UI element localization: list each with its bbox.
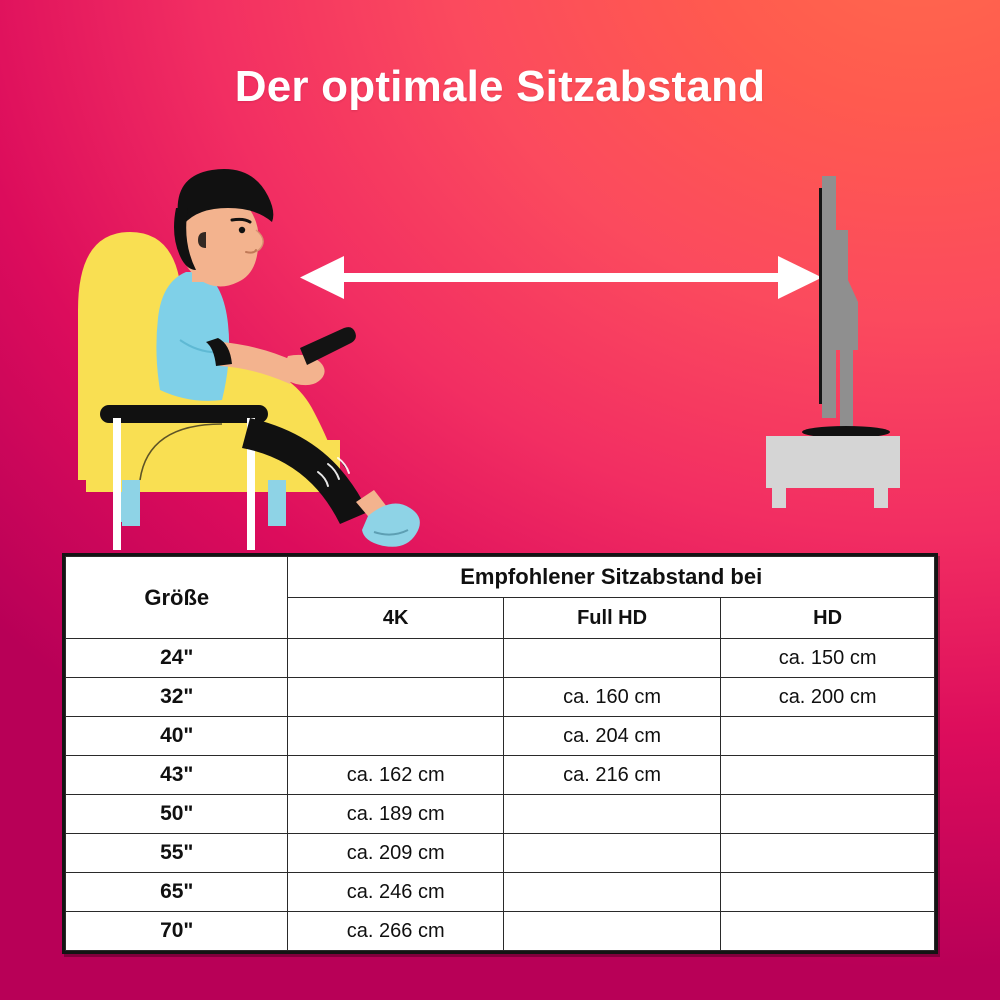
cell-size: 24" — [66, 639, 288, 678]
infographic-root: Der optimale Sitzabstand — [0, 0, 1000, 1000]
cell-4k: ca. 189 cm — [288, 795, 504, 834]
tv-cabinet-leg-left — [772, 488, 786, 508]
cell-hd — [721, 795, 935, 834]
table-head-row-group: Größe Empfohlener Sitzabstand bei — [66, 557, 935, 598]
tv-remote-icon — [300, 327, 356, 365]
cell-hd — [721, 912, 935, 951]
column-header-size: Größe — [66, 557, 288, 639]
cell-full-hd — [503, 639, 720, 678]
tv-cabinet-leg-right — [874, 488, 888, 508]
table-row: 40"ca. 204 cm — [66, 717, 935, 756]
cell-hd — [721, 834, 935, 873]
table-row: 32"ca. 160 cmca. 200 cm — [66, 678, 935, 717]
cell-size: 70" — [66, 912, 288, 951]
double-headed-distance-arrow — [300, 256, 822, 299]
column-header-4k: 4K — [288, 598, 504, 639]
tv-screen-edge — [819, 188, 822, 404]
footstool-leg-left — [113, 418, 121, 550]
chair-leg-front-left — [122, 480, 140, 526]
table-body: 24"ca. 150 cm32"ca. 160 cmca. 200 cm40"c… — [66, 639, 935, 951]
cell-full-hd — [503, 912, 720, 951]
cell-full-hd — [503, 873, 720, 912]
chair-leg-front-right — [268, 480, 286, 526]
tv-panel-back — [822, 176, 836, 418]
cell-4k: ca. 209 cm — [288, 834, 504, 873]
cell-size: 40" — [66, 717, 288, 756]
column-header-fullhd: Full HD — [503, 598, 720, 639]
tv-pedestal-neck — [840, 346, 853, 432]
table-row: 43"ca. 162 cmca. 216 cm — [66, 756, 935, 795]
cell-full-hd: ca. 160 cm — [503, 678, 720, 717]
column-header-group: Empfohlener Sitzabstand bei — [288, 557, 935, 598]
illustration-svg — [0, 150, 1000, 550]
table-row: 65"ca. 246 cm — [66, 873, 935, 912]
cell-size: 65" — [66, 873, 288, 912]
cell-hd: ca. 200 cm — [721, 678, 935, 717]
tv-housing-mid — [836, 230, 848, 350]
column-header-hd: HD — [721, 598, 935, 639]
cell-hd — [721, 873, 935, 912]
cell-size: 32" — [66, 678, 288, 717]
cell-4k: ca. 246 cm — [288, 873, 504, 912]
page-title: Der optimale Sitzabstand — [0, 62, 1000, 112]
cell-size: 50" — [66, 795, 288, 834]
person-shirt — [156, 272, 229, 401]
cell-size: 43" — [66, 756, 288, 795]
cell-hd: ca. 150 cm — [721, 639, 935, 678]
television-on-stand — [766, 176, 900, 508]
arrow-head-left — [300, 256, 344, 299]
table-row: 55"ca. 209 cm — [66, 834, 935, 873]
arrow-head-right — [778, 256, 822, 299]
sitzabstand-table-container: Größe Empfohlener Sitzabstand bei 4K Ful… — [62, 553, 938, 954]
footstool-top — [100, 405, 268, 423]
cell-full-hd: ca. 204 cm — [503, 717, 720, 756]
cell-4k — [288, 678, 504, 717]
sitzabstand-table: Größe Empfohlener Sitzabstand bei 4K Ful… — [65, 556, 935, 951]
table-row: 50"ca. 189 cm — [66, 795, 935, 834]
tv-cabinet — [766, 436, 900, 488]
cell-4k — [288, 639, 504, 678]
illustration-area — [0, 150, 1000, 550]
cell-hd — [721, 756, 935, 795]
cell-size: 55" — [66, 834, 288, 873]
arrow-shaft — [330, 273, 790, 282]
table-head: Größe Empfohlener Sitzabstand bei 4K Ful… — [66, 557, 935, 639]
cell-4k: ca. 266 cm — [288, 912, 504, 951]
cell-4k — [288, 717, 504, 756]
cell-hd — [721, 717, 935, 756]
person-eye — [239, 227, 245, 233]
cell-full-hd — [503, 834, 720, 873]
cell-full-hd: ca. 216 cm — [503, 756, 720, 795]
table-row: 70"ca. 266 cm — [66, 912, 935, 951]
cell-full-hd — [503, 795, 720, 834]
table-row: 24"ca. 150 cm — [66, 639, 935, 678]
tv-housing-taper — [848, 280, 858, 350]
cell-4k: ca. 162 cm — [288, 756, 504, 795]
